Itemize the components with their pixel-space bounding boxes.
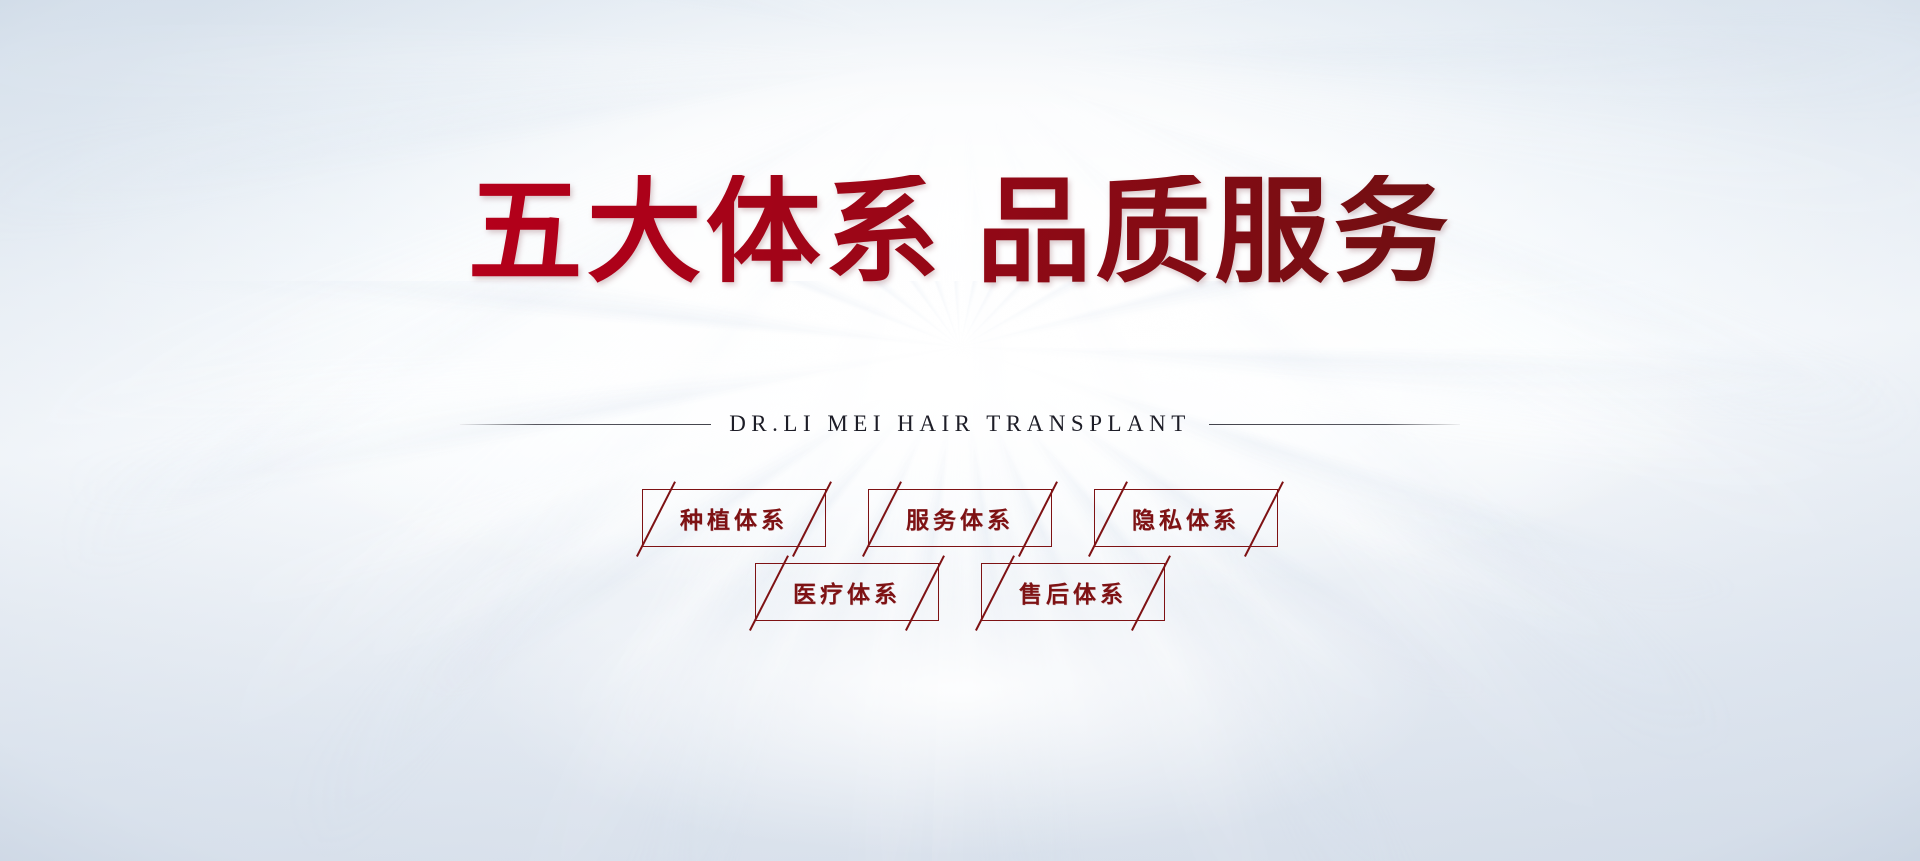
slash-left-icon (636, 481, 676, 557)
slash-left-icon (1088, 481, 1128, 557)
promo-banner: 五大体系 品质服务 DR.LI MEI HAIR TRANSPLANT 种植体系… (0, 0, 1920, 861)
slash-left-icon (975, 555, 1015, 631)
banner-content: 五大体系 品质服务 DR.LI MEI HAIR TRANSPLANT 种植体系… (0, 0, 1920, 861)
badge-medical-system[interactable]: 医疗体系 (755, 563, 939, 621)
slash-right-icon (905, 555, 945, 631)
subtitle-rule-right (1209, 424, 1460, 425)
subtitle-rule-left (460, 424, 711, 425)
slash-right-icon (1131, 555, 1171, 631)
badge-label: 种植体系 (680, 501, 788, 535)
badge-label: 医疗体系 (793, 575, 901, 609)
slash-right-icon (1018, 481, 1058, 557)
badge-service-system[interactable]: 服务体系 (868, 489, 1052, 547)
slash-left-icon (862, 481, 902, 557)
badge-row-bottom: 医疗体系 售后体系 (755, 563, 1165, 621)
badge-aftersales-system[interactable]: 售后体系 (981, 563, 1165, 621)
badge-label: 服务体系 (906, 501, 1014, 535)
slash-right-icon (1244, 481, 1284, 557)
badge-planting-system[interactable]: 种植体系 (642, 489, 826, 547)
badge-group: 种植体系 服务体系 隐私体系 医疗体系 (642, 489, 1278, 621)
badge-label: 售后体系 (1019, 575, 1127, 609)
headline-title: 五大体系 品质服务 (468, 175, 1453, 290)
subtitle-text: DR.LI MEI HAIR TRANSPLANT (729, 411, 1191, 437)
badge-label: 隐私体系 (1132, 501, 1240, 535)
slash-right-icon (792, 481, 832, 557)
slash-left-icon (749, 555, 789, 631)
badge-privacy-system[interactable]: 隐私体系 (1094, 489, 1278, 547)
subtitle-row: DR.LI MEI HAIR TRANSPLANT (460, 411, 1460, 437)
badge-row-top: 种植体系 服务体系 隐私体系 (642, 489, 1278, 547)
